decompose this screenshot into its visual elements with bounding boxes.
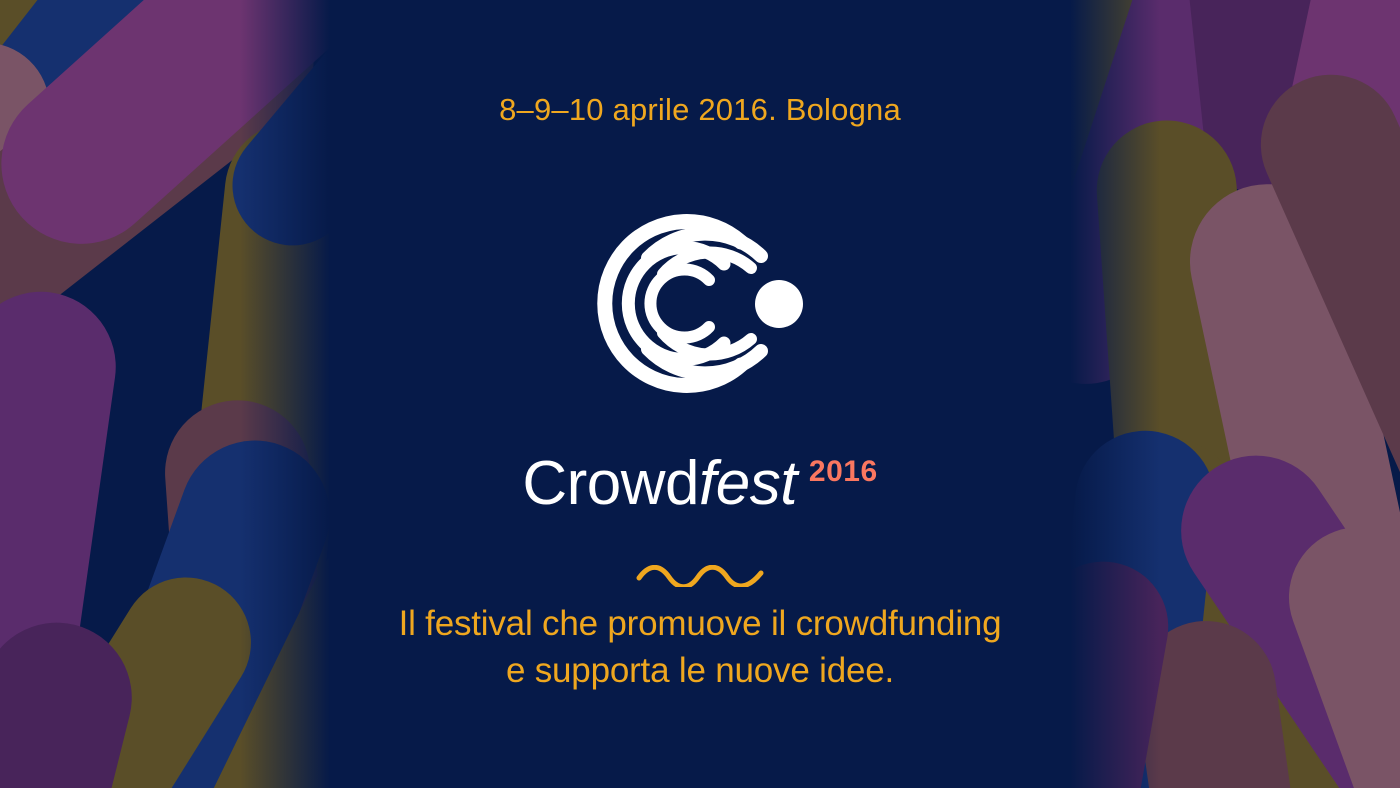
- wordmark-year: 2016: [809, 457, 878, 487]
- logo-dot: [755, 280, 803, 328]
- wordmark-fest: fest: [699, 453, 797, 515]
- tagline: Il festival che promuove il crowdfunding…: [399, 601, 1002, 695]
- crowdfest-c-mark: [585, 206, 815, 401]
- poster-canvas: 8–9–10 aprile 2016. Bologna: [0, 0, 1400, 788]
- tagline-line-1: Il festival che promuove il crowdfunding: [399, 601, 1002, 648]
- poster-content: 8–9–10 aprile 2016. Bologna: [0, 0, 1400, 788]
- wordmark: Crowd fest 2016: [522, 453, 877, 515]
- wordmark-crowd: Crowd: [522, 453, 699, 515]
- tagline-line-2: e supporta le nuove idee.: [399, 648, 1002, 695]
- event-date-location: 8–9–10 aprile 2016. Bologna: [499, 92, 901, 128]
- wavy-squiggle-divider: [635, 565, 765, 587]
